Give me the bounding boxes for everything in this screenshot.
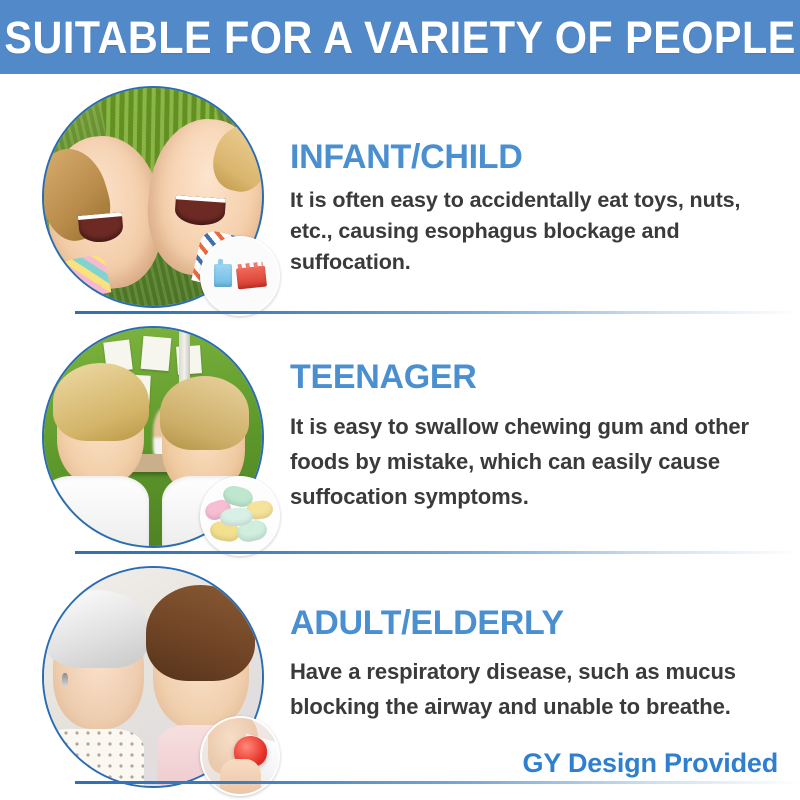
banner-title: SUITABLE FOR A VARIETY OF PEOPLE xyxy=(4,15,795,60)
section-infant-child: INFANT/CHILD It is often easy to acciden… xyxy=(0,86,800,310)
toy-brick-blue xyxy=(214,264,232,287)
section-title: INFANT/CHILD xyxy=(290,138,770,176)
child-boy-hair xyxy=(207,120,264,197)
photo-adult-elderly xyxy=(42,566,264,788)
adult-woman-hair xyxy=(146,585,255,681)
section-teenager: TEENAGER It is easy to swallow chewing g… xyxy=(0,326,800,550)
section-title: TEENAGER xyxy=(290,358,770,396)
inset-toy-bricks xyxy=(200,236,280,316)
bottom-divider xyxy=(75,781,800,784)
infographic-page: SUITABLE FOR A VARIETY OF PEOPLE xyxy=(0,0,800,800)
elderly-woman-blouse xyxy=(42,729,144,788)
inset-image-chewing-gum xyxy=(202,478,278,554)
inset-chewing-gum xyxy=(200,476,280,556)
section-body: It is often easy to accidentally eat toy… xyxy=(290,185,750,278)
teen-girl-left-hair xyxy=(53,363,149,441)
text-column: ADULT/ELDERLY Have a respiratory disease… xyxy=(290,604,770,724)
inset-anti-choking-device xyxy=(200,716,280,796)
text-column: INFANT/CHILD It is often easy to acciden… xyxy=(290,138,770,278)
elderly-woman-hair xyxy=(44,590,149,668)
section-title: ADULT/ELDERLY xyxy=(290,604,770,642)
section-divider xyxy=(75,311,800,314)
earring xyxy=(62,673,68,687)
photo-infant-child xyxy=(42,86,264,308)
section-body: Have a respiratory disease, such as mucu… xyxy=(290,654,760,724)
photo-teenager xyxy=(42,326,264,548)
hand xyxy=(220,759,261,796)
toy-brick-red xyxy=(236,265,267,289)
teen-girl-left-polo xyxy=(42,476,149,548)
header-banner: SUITABLE FOR A VARIETY OF PEOPLE xyxy=(0,0,800,74)
teen-girl-right-hair xyxy=(160,376,249,450)
text-column: TEENAGER It is easy to swallow chewing g… xyxy=(290,358,770,514)
section-body: It is easy to swallow chewing gum and ot… xyxy=(290,409,760,514)
inset-image-toy-bricks xyxy=(202,238,278,314)
watermark-text: GY Design Provided xyxy=(523,748,778,778)
section-divider xyxy=(75,551,800,554)
